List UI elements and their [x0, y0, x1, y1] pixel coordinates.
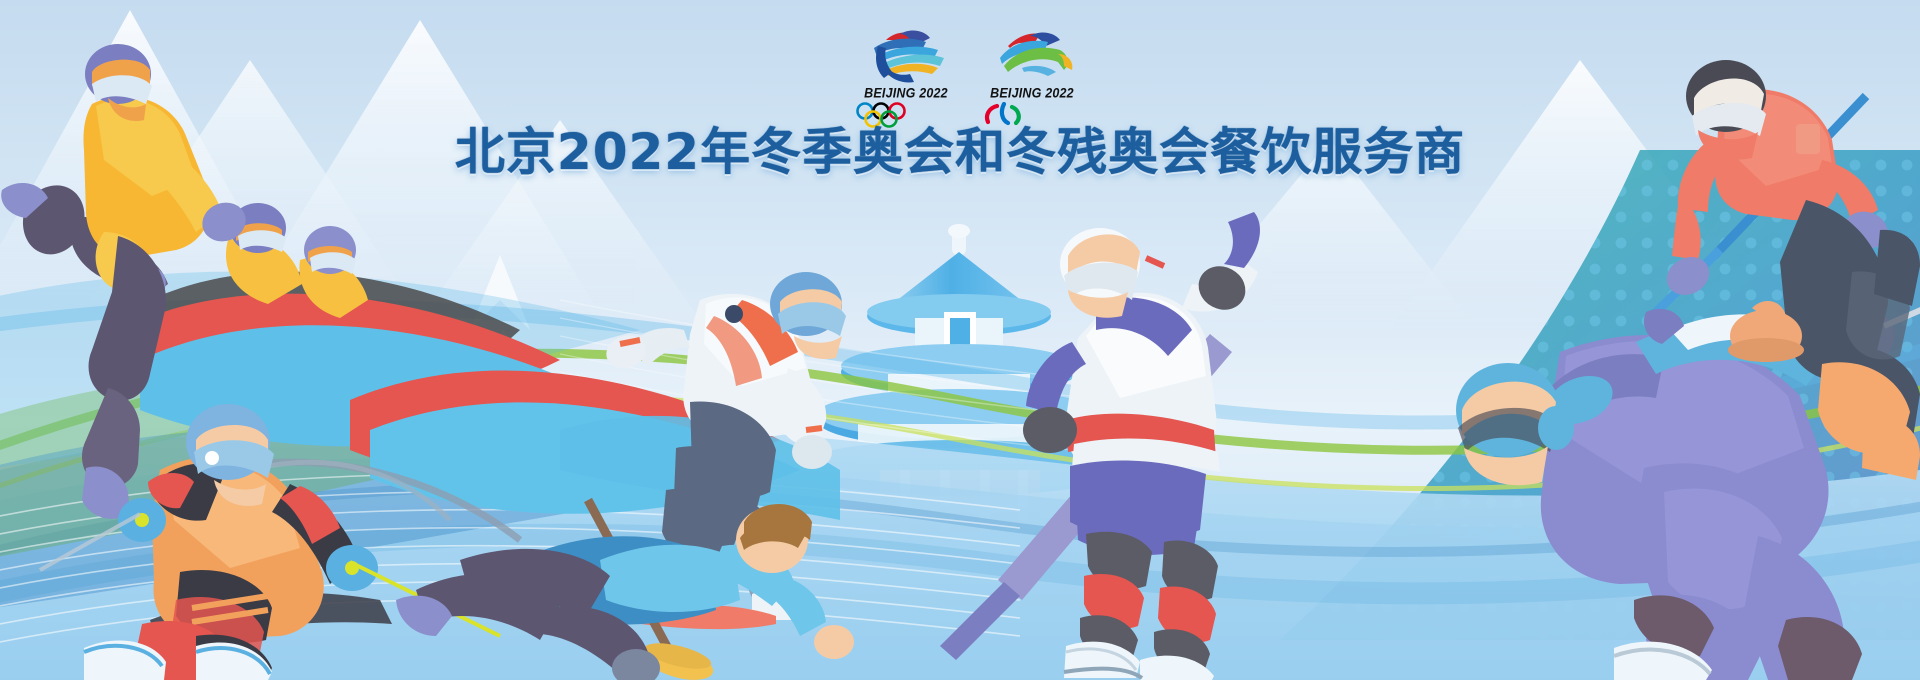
winter-dream-symbol-icon — [852, 24, 960, 86]
paralympic-emblem-wordmark: BEIJING 2022 — [978, 85, 1086, 101]
olympic-emblem-wordmark: BEIJING 2022 — [852, 85, 960, 101]
ice-hockey-player — [940, 212, 1260, 680]
emblems-group: BEIJING 2022 — [852, 24, 1092, 136]
page-title: 北京2022年冬季奥会和冬残奥会餐饮服务商 — [0, 124, 1920, 182]
beijing-2022-olympic-emblem: BEIJING 2022 — [852, 24, 960, 136]
curling-sweeper — [396, 500, 854, 680]
curling-stones-extra — [1694, 266, 1754, 306]
leap-symbol-icon — [978, 24, 1086, 86]
beijing-2022-catering-banner: BEIJING 2022 — [0, 0, 1920, 680]
beijing-2022-paralympic-emblem: BEIJING 2022 — [978, 24, 1086, 136]
